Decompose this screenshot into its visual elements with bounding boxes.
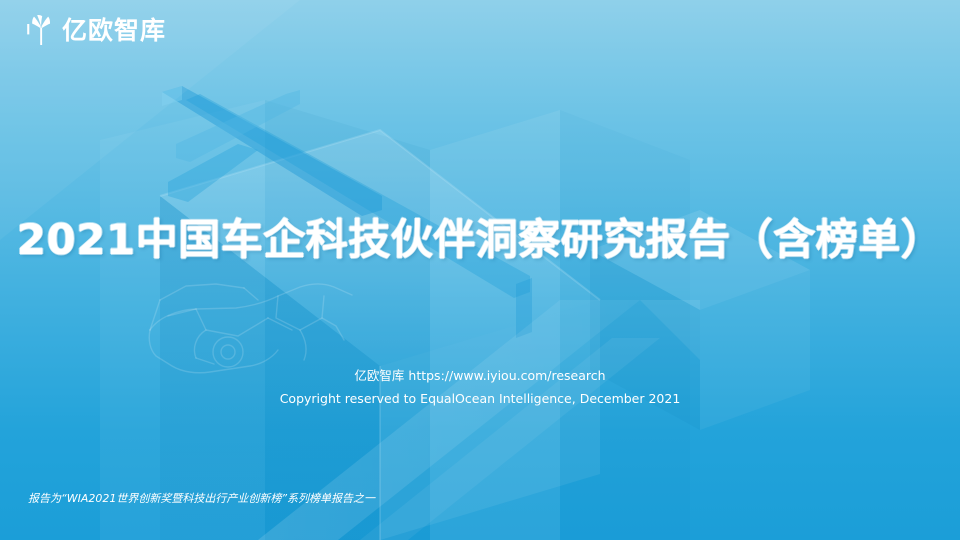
page-title: 2021中国车企科技伙伴洞察研究报告（含榜单） [0,214,960,266]
report-cover-slide: 亿欧智库 2021中国车企科技伙伴洞察研究报告（含榜单） 亿欧智库 https:… [0,0,960,540]
brand-logo: 亿欧智库 [26,13,166,47]
subtitle-block: 亿欧智库 https://www.iyiou.com/research Copy… [0,364,960,410]
background-decoration-layer [0,0,960,540]
background-panels [100,100,690,540]
logo-text: 亿欧智库 [62,18,166,43]
copyright-line: Copyright reserved to EqualOcean Intelli… [0,387,960,410]
isometric-cross-beams [162,86,532,338]
car-outline-illustration [149,284,352,373]
source-url-line: 亿欧智库 https://www.iyiou.com/research [0,364,960,387]
yiou-sprout-mark [26,14,56,46]
isometric-box [160,130,600,540]
background-graphics [0,0,960,540]
footnote-text: 报告为“WIA2021世界创新奖暨科技出行产业创新榜”系列榜单报告之一 [28,492,375,506]
